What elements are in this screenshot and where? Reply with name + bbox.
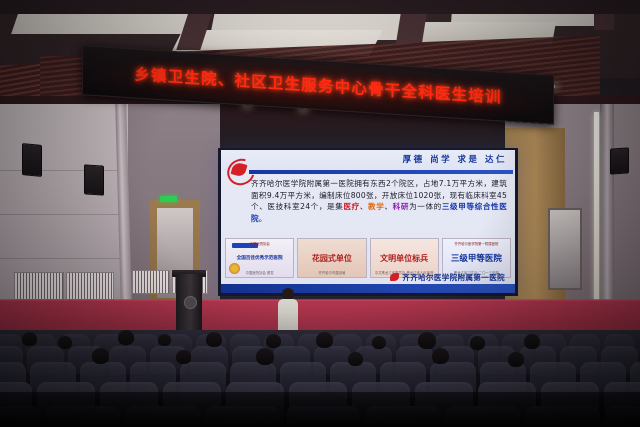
wall-speaker xyxy=(22,143,42,177)
seated-attendee-head xyxy=(470,336,485,350)
seated-attendee-head xyxy=(206,332,222,347)
wall-vent-grille xyxy=(66,272,114,300)
wall-vent-grille xyxy=(14,272,64,300)
seated-attendee-head xyxy=(372,336,386,349)
slide-body-text: 齐齐哈尔医学院附属第一医院拥有东西2个院区，占地7.1万平方米，建筑面积9.4万… xyxy=(251,178,507,224)
slide-text-segment: 科研 xyxy=(393,202,409,211)
slide-text-segment: 为一体的 xyxy=(409,202,442,211)
slide-text-segment: 教学 xyxy=(368,202,384,211)
seated-attendee-head xyxy=(22,332,37,346)
plaque-title: 文明单位标兵 xyxy=(380,253,428,264)
slide-text-segment: 医疗 xyxy=(343,202,359,211)
footer-label: 齐齐哈尔医学院附属第一医院 xyxy=(402,273,505,282)
slide-footer: 齐齐哈尔医学院附属第一医院 xyxy=(221,271,515,283)
seated-attendee-head xyxy=(256,348,274,365)
slide-text-segment: 、 xyxy=(384,202,392,211)
seated-attendee-head xyxy=(176,350,191,364)
ceiling-edge xyxy=(0,0,640,14)
plaque-issuer-top: 齐齐哈尔医学院第一附属医院 xyxy=(443,241,510,246)
wall-vent-grille xyxy=(132,270,170,294)
wall-panel-seam xyxy=(0,170,126,171)
seated-attendee-head xyxy=(418,332,436,349)
seated-attendee-head xyxy=(58,336,72,349)
wall-speaker xyxy=(84,164,104,195)
wall-speaker xyxy=(610,147,629,174)
foreground-shadow xyxy=(0,392,640,427)
hospital-swoosh-logo xyxy=(227,159,251,181)
wall-panel-seam xyxy=(0,214,126,215)
lectern-emblem xyxy=(184,296,197,309)
right-column xyxy=(600,104,614,316)
seated-attendee-head xyxy=(158,334,171,346)
attendee-body xyxy=(278,299,298,332)
vertical-light-strip xyxy=(594,112,599,302)
plaque-issuer-top: 中国医院协会 xyxy=(226,241,293,246)
right-window xyxy=(548,208,582,290)
slide-motto: 厚德 尚学 求是 达仁 xyxy=(403,153,507,165)
seated-attendee-head xyxy=(118,330,134,345)
wall-panel-seam xyxy=(0,258,126,259)
plaque-title: 三级甲等医院 xyxy=(451,252,502,264)
seated-attendee-head xyxy=(266,334,281,348)
slide-text-segment: 。 xyxy=(259,214,267,223)
slide-footer-bar xyxy=(221,284,515,293)
seated-attendee-head xyxy=(92,348,109,364)
seated-attendee-head xyxy=(432,348,449,364)
standing-attendee xyxy=(278,288,298,332)
conference-hall-photo: 乡镇卫生院、社区卫生服务中心骨干全科医生培训 厚德 尚学 求是 达仁 齐齐哈尔医… xyxy=(0,0,640,427)
stage-edge-highlight xyxy=(0,299,640,301)
slide-footer-text: 齐齐哈尔医学院附属第一医院 xyxy=(390,272,505,283)
footer-logo-icon xyxy=(390,273,399,281)
seated-attendee-head xyxy=(348,352,363,366)
plaque-title: 全国百佳优秀示范医院 xyxy=(237,255,283,261)
exit-sign-icon xyxy=(160,196,177,202)
projection-screen: 厚德 尚学 求是 达仁 齐齐哈尔医学院附属第一医院拥有东西2个院区，占地7.1万… xyxy=(221,150,515,293)
seated-attendee-head xyxy=(508,352,524,367)
seated-attendee-head xyxy=(524,334,540,349)
seated-attendee-head xyxy=(316,332,333,348)
plaque-title: 花园式单位 xyxy=(312,253,352,264)
slide-text-segment: 、 xyxy=(360,202,368,211)
slide-accent-bar xyxy=(249,170,513,174)
